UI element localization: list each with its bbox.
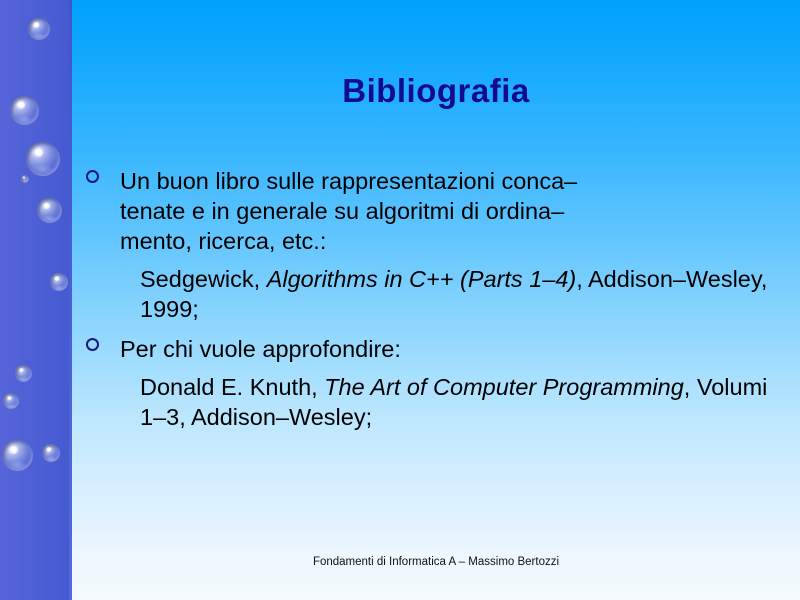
reference-sedgewick-author: Sedgewick, xyxy=(140,266,267,292)
bullet-item-2: Per chi vuole approfondire: xyxy=(84,334,790,364)
water-drop-icon xyxy=(50,273,68,291)
slide-footer: Fondamenti di Informatica A – Massimo Be… xyxy=(72,556,800,568)
bullet-item-2-line-1: Per chi vuole approfondire: xyxy=(120,334,790,364)
sidebar-decoration-band xyxy=(0,0,72,600)
hollow-circle-bullet-icon xyxy=(86,338,99,351)
water-drop-icon xyxy=(21,175,29,183)
bullet-item-1-line-1: Un buon libro sulle rappresentazioni con… xyxy=(120,166,790,196)
slide-canvas: Bibliografia Un buon libro sulle rappres… xyxy=(0,0,800,600)
water-drop-icon xyxy=(37,198,62,223)
water-drop-icon xyxy=(2,440,33,471)
water-drop-icon xyxy=(3,393,19,409)
water-drop-icon xyxy=(28,18,50,40)
reference-knuth: Donald E. Knuth, The Art of Computer Pro… xyxy=(84,372,790,432)
page-title: Bibliografia xyxy=(72,72,800,110)
water-drop-icon xyxy=(42,444,60,462)
slide-body: Un buon libro sulle rappresentazioni con… xyxy=(84,166,790,432)
water-drop-icon xyxy=(26,142,60,176)
bullet-item-1-line-3: mento, ricerca, etc.: xyxy=(120,226,790,256)
reference-knuth-author: Donald E. Knuth, xyxy=(140,374,324,400)
bullet-item-1: Un buon libro sulle rappresentazioni con… xyxy=(84,166,790,256)
reference-knuth-title: The Art of Computer Programming xyxy=(324,374,684,400)
reference-sedgewick-title: Algorithms in C++ (Parts 1–4) xyxy=(267,266,577,292)
water-drop-icon xyxy=(10,96,39,125)
hollow-circle-bullet-icon xyxy=(86,170,99,183)
reference-sedgewick: Sedgewick, Algorithms in C++ (Parts 1–4)… xyxy=(84,264,790,324)
bullet-item-1-line-2: tenate e in generale su algoritmi di ord… xyxy=(120,196,790,226)
water-drop-icon xyxy=(15,365,32,382)
